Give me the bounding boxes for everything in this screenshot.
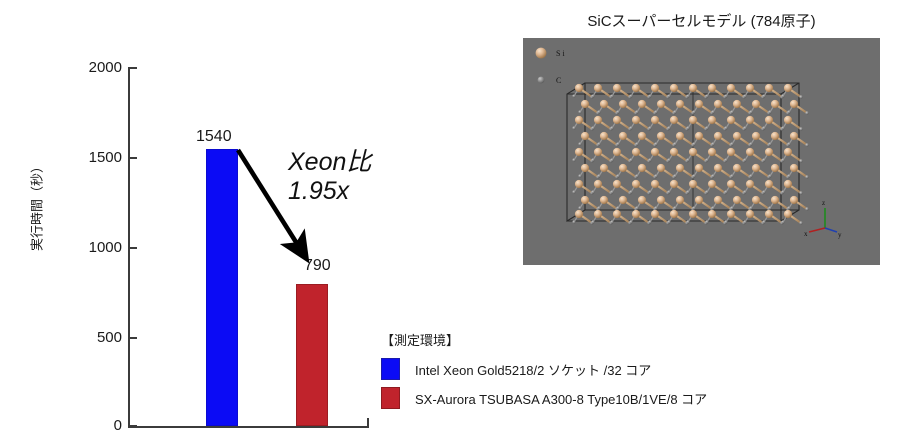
svg-text:y: y (838, 231, 842, 239)
bar-aurora (296, 284, 328, 426)
bar-xeon (206, 149, 238, 426)
y-tick-label-1000: 1000 (62, 240, 122, 255)
y-axis-tick-2000 (130, 67, 137, 69)
y-axis-title: 実行時間（秒） (27, 126, 46, 286)
ratio-annotation: Xeon比 1.95x (288, 148, 371, 206)
legend-label-aurora: SX-Aurora TSUBASA A300-8 Type10B/1VE/8 コ… (415, 389, 707, 408)
y-axis-tick-0 (130, 425, 137, 427)
ratio-annotation-line2: 1.95x (288, 177, 371, 206)
x-axis-line (128, 426, 369, 428)
y-tick-label-500: 500 (62, 330, 122, 345)
ratio-annotation-line1: Xeon比 (288, 148, 371, 176)
y-tick-label-1500: 1500 (62, 150, 122, 165)
y-axis-tick-labels: 2000 1500 1000 500 0 (58, 0, 122, 448)
y-axis-tick-500 (130, 337, 137, 339)
legend-swatch-red (381, 387, 400, 409)
svg-text:C: C (556, 76, 561, 85)
y-axis-tick-1000 (130, 247, 137, 249)
bar-value-label-xeon: 1540 (196, 128, 232, 146)
y-axis-tick-1500 (130, 157, 137, 159)
legend-item-aurora: SX-Aurora TSUBASA A300-8 Type10B/1VE/8 コ… (381, 387, 711, 409)
measurement-environment-legend: 【測定環境】 Intel Xeon Gold5218/2 ソケット /32 コア… (381, 330, 711, 416)
legend-title: 【測定環境】 (381, 330, 711, 349)
legend-label-xeon: Intel Xeon Gold5218/2 ソケット /32 コア (415, 360, 651, 379)
svg-text:x: x (804, 230, 808, 238)
crystal-lattice-render: S i C (523, 38, 880, 265)
sic-supercell-viewer: S i C (523, 38, 880, 265)
x-axis-tick-right (367, 418, 369, 426)
legend-swatch-blue (381, 358, 400, 380)
model-title: SiCスーパーセルモデル (784原子) (523, 10, 880, 31)
y-tick-label-2000: 2000 (62, 60, 122, 75)
legend-item-xeon: Intel Xeon Gold5218/2 ソケット /32 コア (381, 358, 711, 380)
bar-value-label-aurora: 790 (304, 257, 331, 275)
y-tick-label-0: 0 (62, 418, 122, 433)
svg-text:z: z (822, 199, 825, 207)
svg-text:S i: S i (556, 49, 565, 58)
